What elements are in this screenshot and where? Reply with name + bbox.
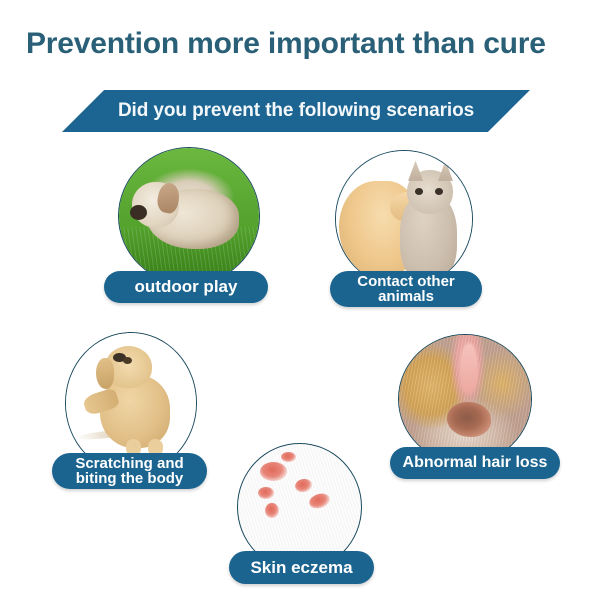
scenario-label-contact-other-animals[interactable]: Contact other animals — [330, 271, 482, 307]
scenario-image-abnormal-hair-loss — [398, 334, 532, 464]
puppy-muzzle-shape — [130, 205, 147, 220]
kitten-eye-right-shape — [435, 188, 443, 195]
eczema-spot — [293, 478, 312, 494]
eczema-spot — [308, 491, 332, 511]
puppy-eye-shape — [123, 357, 132, 364]
kitten-eye-left-shape — [415, 188, 423, 195]
eczema-spot — [258, 487, 274, 500]
poster-root: Prevention more important than cure Did … — [0, 0, 600, 600]
photo-puppy-and-kitten — [336, 151, 472, 287]
scenario-image-outdoor-play — [118, 147, 260, 285]
page-title: Prevention more important than cure — [26, 28, 586, 60]
kitten-ear-right-shape — [438, 161, 453, 181]
eczema-spot — [281, 452, 296, 462]
scenario-image-contact-other-animals — [335, 150, 473, 288]
scenario-label-scratching-biting[interactable]: Scratching and biting the body — [52, 453, 207, 489]
banner: Did you prevent the following scenarios — [62, 90, 530, 132]
skin-lesion-shape — [447, 402, 492, 438]
photo-hair-loss-closeup — [399, 335, 531, 463]
scenario-label-outdoor-play[interactable]: outdoor play — [104, 271, 268, 303]
photo-puppy-scratching — [66, 333, 196, 473]
bald-skin-patch-shape — [460, 343, 478, 394]
scenario-label-abnormal-hair-loss[interactable]: Abnormal hair loss — [390, 447, 560, 479]
banner-label: Did you prevent the following scenarios — [62, 90, 530, 132]
puppy-ear-shape — [96, 358, 114, 389]
scenario-label-skin-eczema[interactable]: Skin eczema — [229, 551, 374, 584]
photo-puppy-on-grass — [119, 148, 259, 284]
eczema-spot — [265, 503, 279, 518]
eczema-spot — [260, 462, 287, 481]
